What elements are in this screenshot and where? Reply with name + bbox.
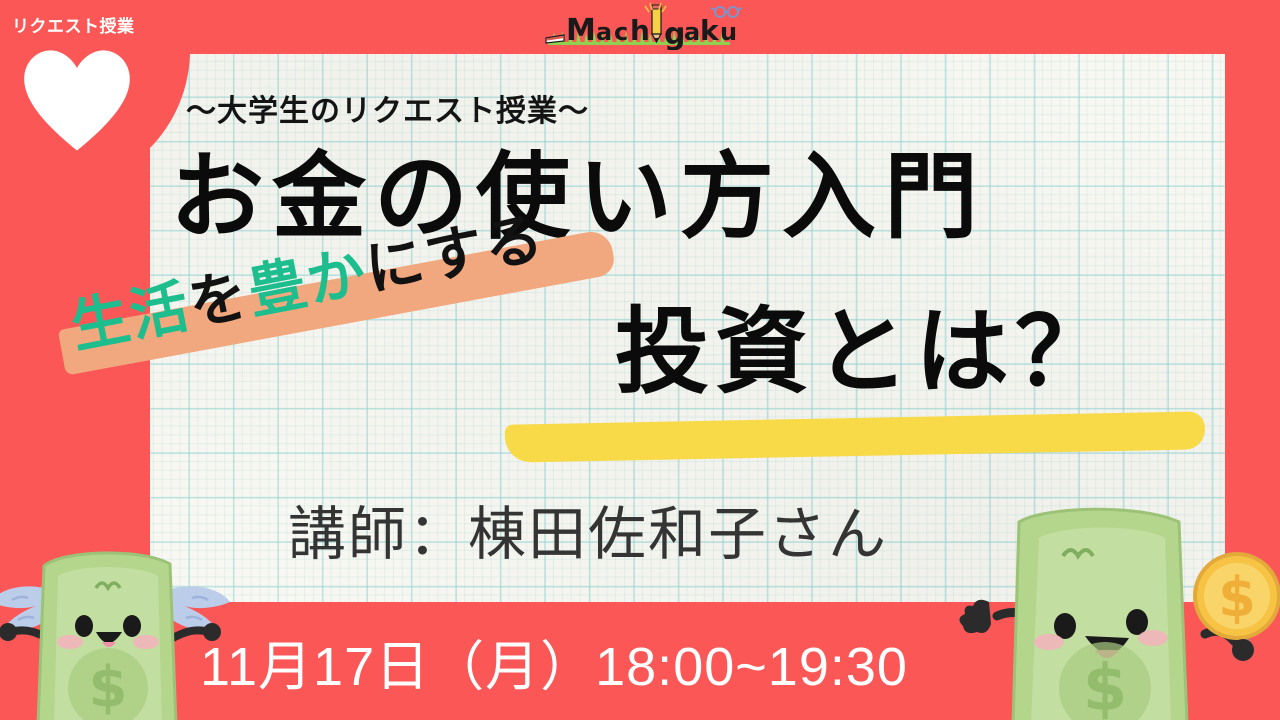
event-title-line1: お金の使い方入門 xyxy=(170,150,986,244)
request-class-badge-label: リクエスト授業 xyxy=(12,12,135,37)
eye-left xyxy=(1054,613,1076,639)
event-datetime: 11月17日（月）18:00~19:30 xyxy=(200,622,908,701)
machigaku-logo: M a c h g a k u xyxy=(540,2,750,50)
blush-left xyxy=(1034,634,1064,650)
blush-right xyxy=(1138,630,1168,646)
eye-right xyxy=(123,615,141,637)
blush-right xyxy=(133,635,159,649)
winged-money-character: $ xyxy=(0,520,242,720)
svg-text:g: g xyxy=(664,17,685,50)
eye-left xyxy=(75,615,93,637)
hand-right xyxy=(203,623,221,641)
coin-dollar-symbol: $ xyxy=(1218,566,1256,629)
heart-icon xyxy=(22,46,132,156)
svg-text:M: M xyxy=(566,13,596,48)
money-character-with-coin: $ $ xyxy=(955,498,1280,720)
svg-text:a: a xyxy=(596,18,612,46)
waving-hand xyxy=(959,600,991,633)
blush-left xyxy=(57,635,83,649)
lecturer-name: 講師：棟田佐和子さん xyxy=(288,487,888,571)
dollar-symbol: $ xyxy=(1083,652,1128,720)
svg-text:u: u xyxy=(720,18,737,46)
poster-canvas: リクエスト授業 M a c h g a k u xyxy=(0,0,1280,720)
hand-right xyxy=(1232,639,1254,661)
book-icon xyxy=(546,35,564,43)
svg-text:h: h xyxy=(630,14,650,47)
event-subtitle: 〜大学生のリクエスト授業〜 xyxy=(186,86,589,130)
svg-text:k: k xyxy=(700,14,720,47)
svg-text:a: a xyxy=(684,18,700,46)
event-title-line2: 投資とは？ xyxy=(615,305,1115,399)
glasses-icon xyxy=(711,7,742,17)
eye-right xyxy=(1126,609,1148,635)
dollar-symbol: $ xyxy=(89,655,128,720)
svg-text:c: c xyxy=(614,18,628,46)
